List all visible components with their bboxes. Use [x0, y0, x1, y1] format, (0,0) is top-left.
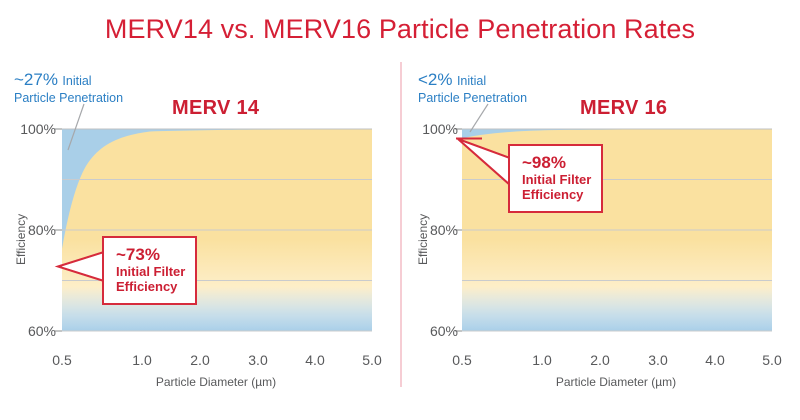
chart-panel-merv14: MERV 14 ~27% Initial Particle Penetratio…: [0, 0, 400, 420]
merv-rating-label-merv14: MERV 14: [172, 97, 259, 120]
penetration-label-part2-merv16: Particle Penetration: [418, 91, 527, 105]
efficiency-callout-merv14: ~73% Initial Filter Efficiency: [102, 236, 197, 305]
y-tick-60-merv16: 60%: [406, 323, 458, 339]
x-tick-3.0-merv16: 3.0: [638, 352, 678, 368]
x-tick-3.0-merv14: 3.0: [238, 352, 278, 368]
penetration-label-part1-merv16: Initial: [457, 74, 486, 88]
x-tick-5.0-merv16: 5.0: [752, 352, 792, 368]
x-tick-2.0-merv16: 2.0: [580, 352, 620, 368]
merv-rating-label-merv16: MERV 16: [580, 97, 667, 120]
y-tick-100-merv14: 100%: [4, 121, 56, 137]
penetration-value-merv14: ~27%: [14, 70, 58, 89]
penetration-annotation-merv16: <2% Initial Particle Penetration: [418, 70, 527, 105]
y-tick-100-merv16: 100%: [406, 121, 458, 137]
x-tick-4.0-merv14: 4.0: [295, 352, 335, 368]
y-tick-80-merv14: 80%: [4, 222, 56, 238]
chart-panel-merv16: MERV 16 <2% Initial Particle Penetration…: [400, 0, 800, 420]
penetration-value-merv16: <2%: [418, 70, 453, 89]
y-tick-60-merv14: 60%: [4, 323, 56, 339]
efficiency-label-line2-merv16: Efficiency: [522, 188, 591, 203]
x-axis-label-merv16: Particle Diameter (µm): [456, 375, 776, 389]
x-axis-label-merv14: Particle Diameter (µm): [56, 375, 376, 389]
efficiency-callout-merv16: ~98% Initial Filter Efficiency: [508, 144, 603, 213]
penetration-annotation-merv14: ~27% Initial Particle Penetration: [14, 70, 123, 105]
efficiency-label-line2-merv14: Efficiency: [116, 280, 185, 295]
y-tick-80-merv16: 80%: [406, 222, 458, 238]
x-tick-1.0-merv14: 1.0: [122, 352, 162, 368]
penetration-leader-line-merv16: [470, 104, 488, 132]
efficiency-value-merv16: ~98%: [522, 153, 591, 172]
x-tick-4.0-merv16: 4.0: [695, 352, 735, 368]
x-tick-5.0-merv14: 5.0: [352, 352, 392, 368]
x-tick-2.0-merv14: 2.0: [180, 352, 220, 368]
x-tick-1.0-merv16: 1.0: [522, 352, 562, 368]
efficiency-label-line1-merv16: Initial Filter: [522, 173, 591, 188]
efficiency-value-merv14: ~73%: [116, 245, 185, 264]
efficiency-label-line1-merv14: Initial Filter: [116, 265, 185, 280]
x-tick-0.5-merv16: 0.5: [442, 352, 482, 368]
penetration-label-part1-merv14: Initial: [62, 74, 91, 88]
x-tick-0.5-merv14: 0.5: [42, 352, 82, 368]
penetration-label-part2-merv14: Particle Penetration: [14, 91, 123, 105]
